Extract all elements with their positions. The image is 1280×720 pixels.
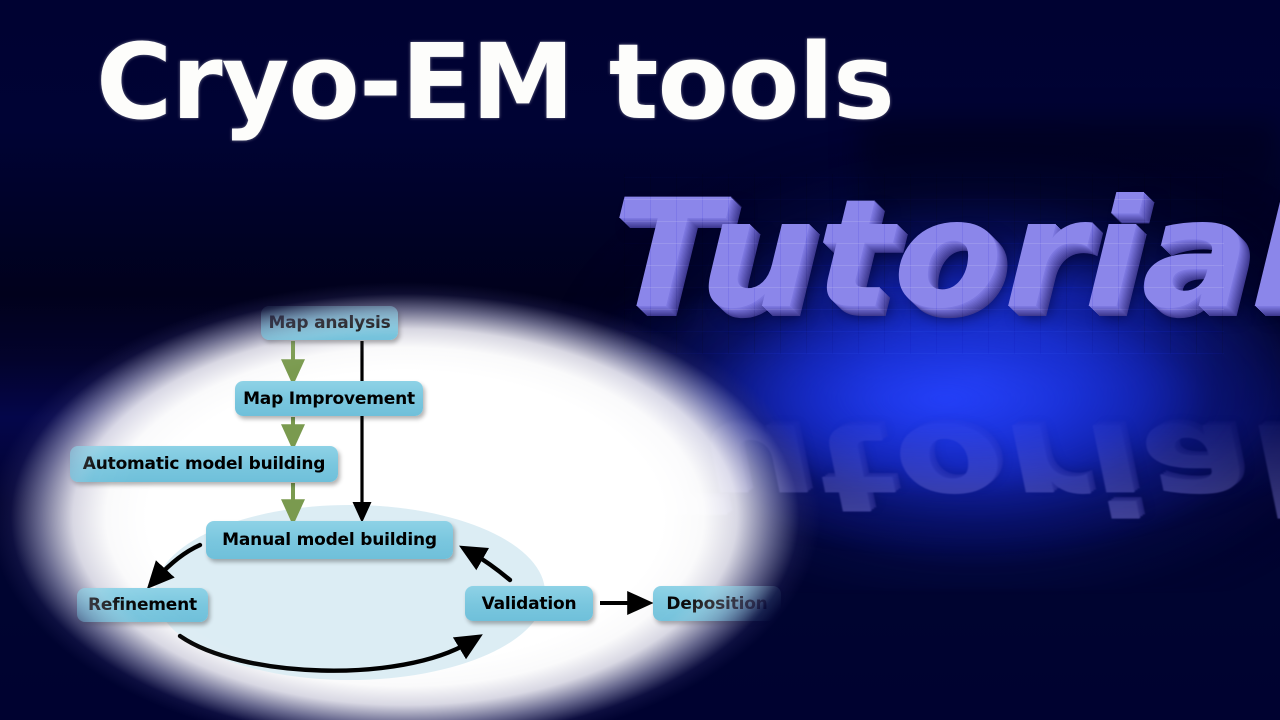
workflow-diagram: Map analysis Map Improvement Automatic m… [0,0,1280,720]
node-map-improvement[interactable]: Map Improvement [235,381,423,416]
node-refinement[interactable]: Refinement [77,588,208,622]
black-curve-refinement-to-validation [180,636,470,671]
node-manual-model-building[interactable]: Manual model building [206,521,453,559]
slide-canvas: Tutorial Tutorial Cryo-EM tools [0,0,1280,720]
node-deposition[interactable]: Deposition [653,586,781,621]
black-curve-validation-to-manual-model-building [472,553,510,580]
node-automatic-model-building[interactable]: Automatic model building [70,446,338,482]
node-validation[interactable]: Validation [465,586,593,621]
node-map-analysis[interactable]: Map analysis [261,306,398,340]
black-curve-manual-model-building-to-refinement [157,545,200,578]
